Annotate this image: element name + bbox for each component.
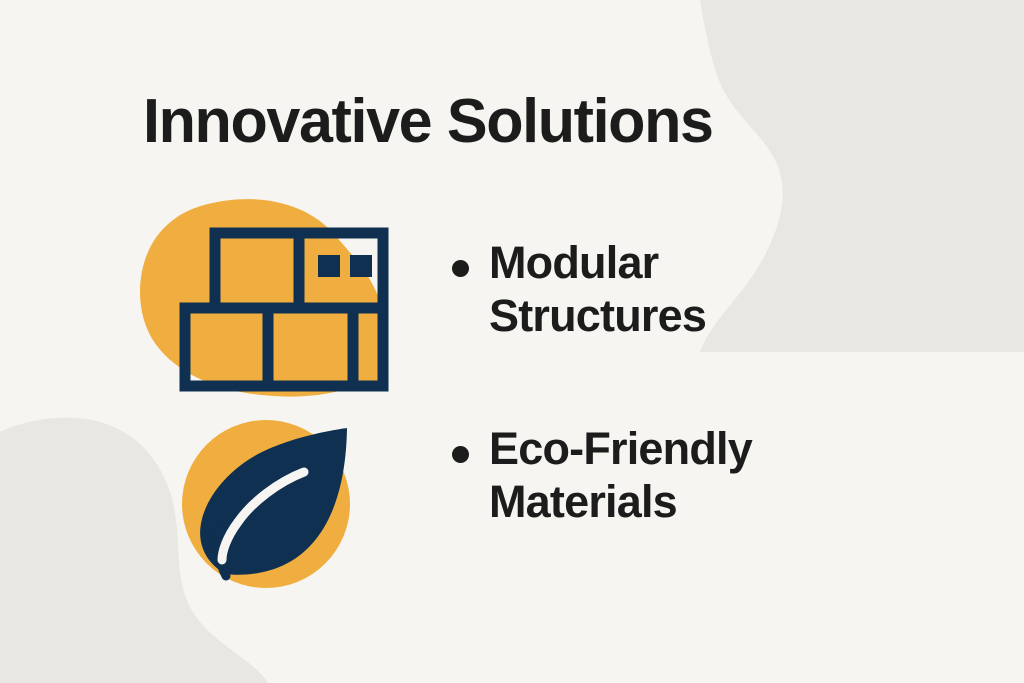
- list-item[interactable]: Modular Structures: [452, 236, 882, 342]
- leaf-icon: [180, 418, 366, 598]
- page-title: Innovative Solutions: [143, 86, 892, 158]
- bullet-dot-icon: [452, 260, 469, 277]
- modular-structures-icon: [138, 192, 394, 402]
- modular-icon-window-left: [318, 255, 340, 277]
- feature-label: Modular Structures: [489, 236, 849, 342]
- feature-label: Eco-Friendly Materials: [489, 422, 849, 528]
- list-item[interactable]: Eco-Friendly Materials: [452, 422, 882, 528]
- modular-icon-window-right: [350, 255, 372, 277]
- slide-canvas: Innovative Solutions: [0, 0, 1024, 683]
- bullet-dot-icon: [452, 446, 469, 463]
- feature-list: Modular Structures Eco-Friendly Material…: [452, 236, 882, 528]
